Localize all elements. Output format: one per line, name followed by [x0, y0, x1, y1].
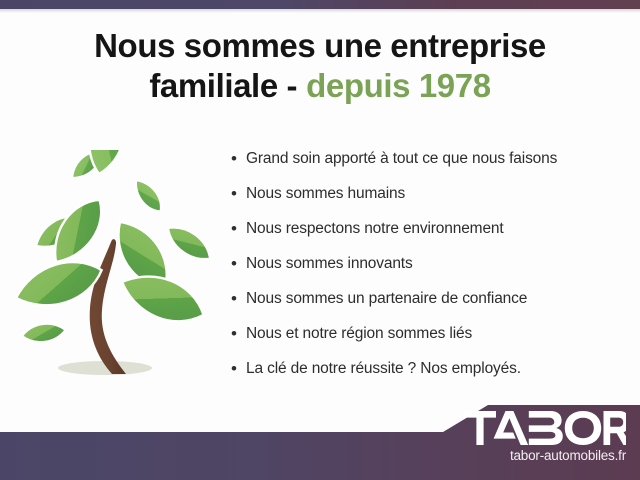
- logo-wordmark: [446, 411, 626, 447]
- list-item-label: Nous et notre région sommes liés: [246, 323, 472, 344]
- logo-url: tabor-automobiles.fr: [446, 448, 626, 464]
- leaf-bottom-left: [21, 321, 67, 345]
- brand-logo[interactable]: tabor-automobiles.fr: [446, 411, 626, 464]
- list-item-label: Nous sommes innovants: [246, 253, 413, 274]
- list-item: • Nous sommes humains: [231, 183, 631, 218]
- list-item: • La clé de notre réussite ? Nos employé…: [231, 358, 631, 393]
- list-item: • Nous sommes un partenaire de confiance: [231, 288, 631, 323]
- list-item-label: Nous respectons notre environnement: [246, 218, 504, 239]
- list-item: • Nous et notre région sommes liés: [231, 323, 631, 358]
- headline-line-2-black: familiale -: [149, 67, 297, 104]
- benefits-list: • Grand soin apporté à tout ce que nous …: [231, 148, 631, 393]
- bullet-icon: •: [231, 323, 246, 344]
- tree-illustration: [8, 150, 218, 390]
- bullet-icon: •: [231, 358, 246, 379]
- top-accent-bar-shadow: [0, 9, 640, 13]
- list-item: • Nous respectons notre environnement: [231, 218, 631, 253]
- list-item: • Nous sommes innovants: [231, 253, 631, 288]
- headline-line-2-green: depuis 1978: [306, 67, 491, 104]
- page-title: Nous sommes une entreprise familiale -de…: [0, 26, 640, 105]
- list-item-label: Nous sommes un partenaire de confiance: [246, 288, 527, 309]
- leaf-top-small-right: [129, 175, 167, 217]
- bullet-icon: •: [231, 183, 246, 204]
- headline-line-1: Nous sommes une entreprise: [94, 27, 546, 64]
- slide-canvas: Nous sommes une entreprise familiale -de…: [0, 0, 640, 480]
- bullet-icon: •: [231, 288, 246, 309]
- bullet-icon: •: [231, 253, 246, 274]
- tree-trunk: [90, 239, 126, 374]
- list-item-label: Nous sommes humains: [246, 183, 405, 204]
- list-item: • Grand soin apporté à tout ce que nous …: [231, 148, 631, 183]
- top-accent-bar: [0, 0, 640, 9]
- list-item-label: La clé de notre réussite ? Nos employés.: [246, 358, 521, 379]
- leaf-far-right: [162, 220, 216, 268]
- list-item-label: Grand soin apporté à tout ce que nous fa…: [246, 148, 557, 169]
- bullet-icon: •: [231, 148, 246, 169]
- bullet-icon: •: [231, 218, 246, 239]
